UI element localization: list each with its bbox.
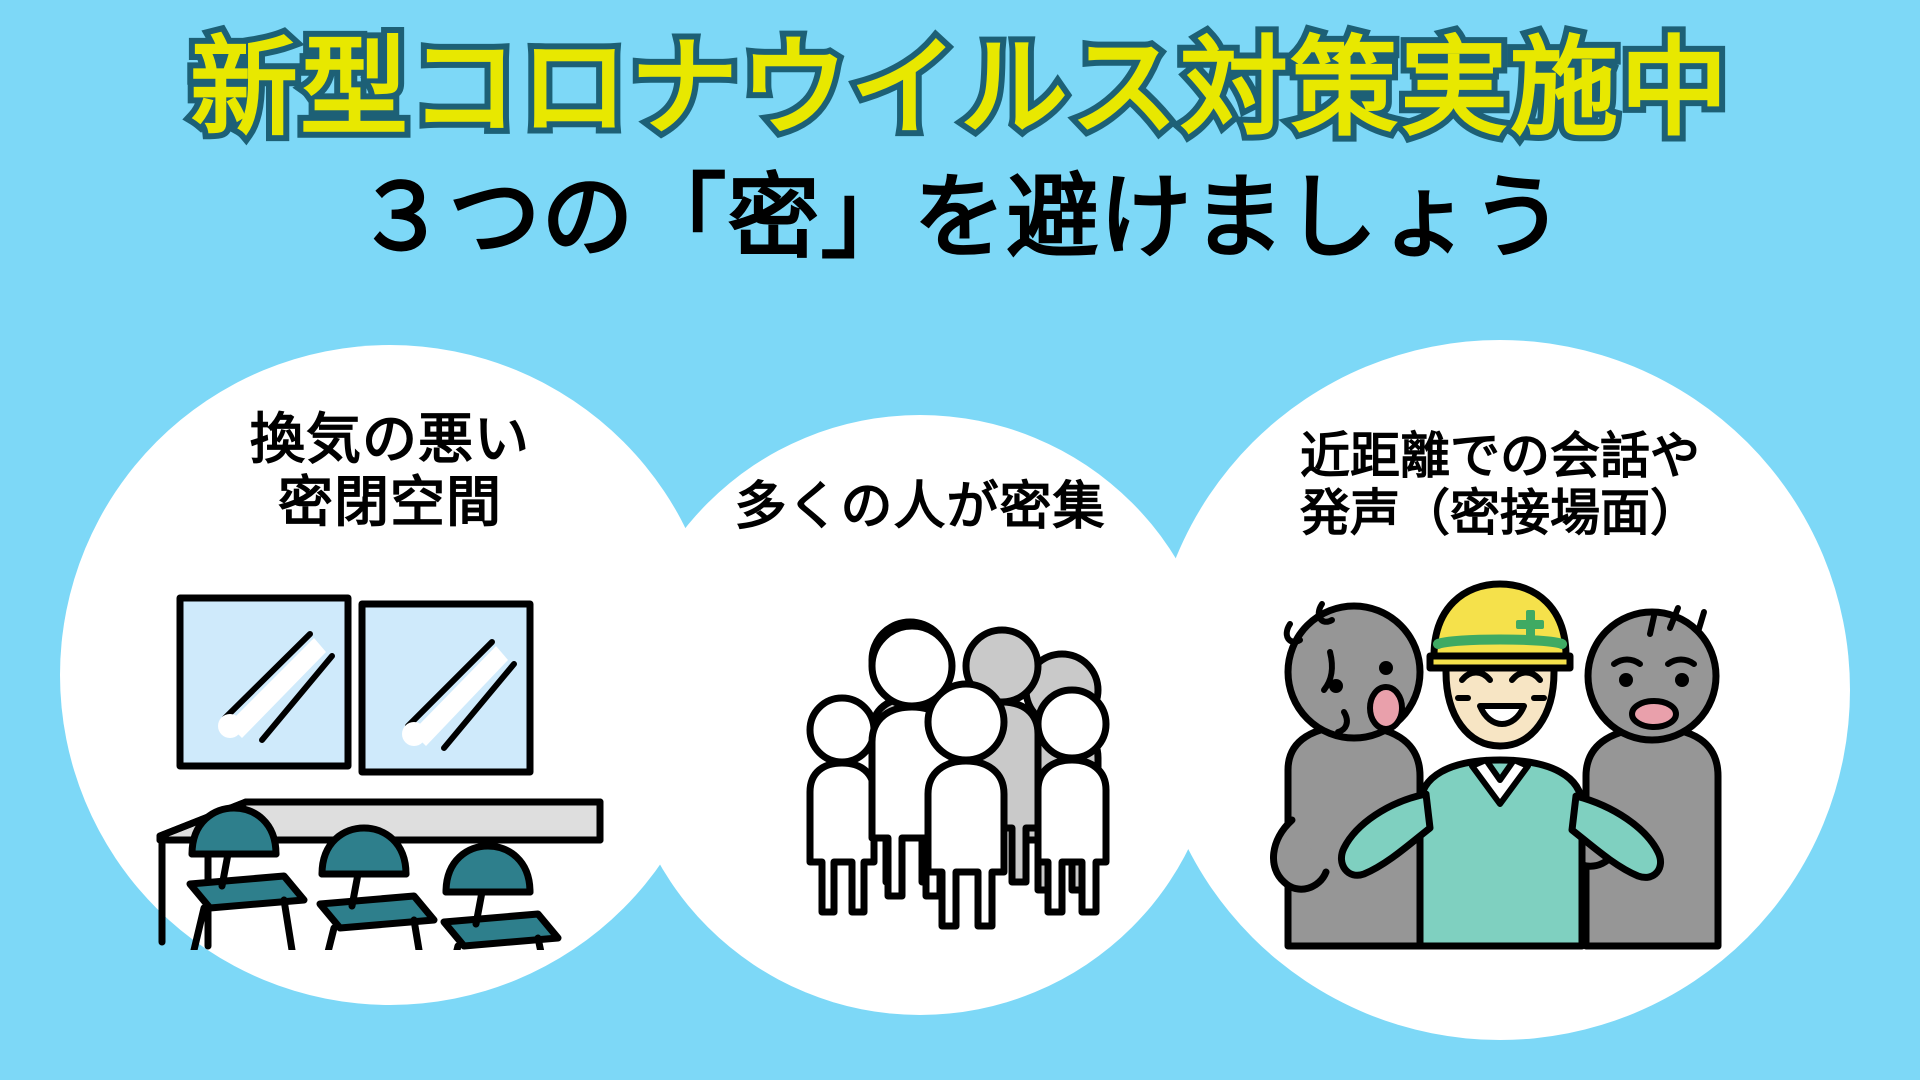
poster-title-block: 新型コロナウイルス対策実施中 ３つの「密」を避けましょう bbox=[0, 0, 1920, 300]
illustration-close-contact bbox=[1270, 580, 1730, 950]
poster-title-line-2: ３つの「密」を避けましょう bbox=[0, 172, 1920, 264]
illustration-crowded-place bbox=[790, 590, 1150, 950]
poster-title-line-1: 新型コロナウイルス対策実施中 bbox=[0, 34, 1920, 142]
panel-caption-closed-space: 換気の悪い 密閉空間 bbox=[110, 408, 670, 533]
illustration-closed-space bbox=[150, 590, 610, 950]
panel-caption-close-contact: 近距離での会話や 発声（密接場面） bbox=[1200, 428, 1800, 542]
panel-caption-crowded-place: 多くの人が密集 bbox=[640, 478, 1200, 537]
